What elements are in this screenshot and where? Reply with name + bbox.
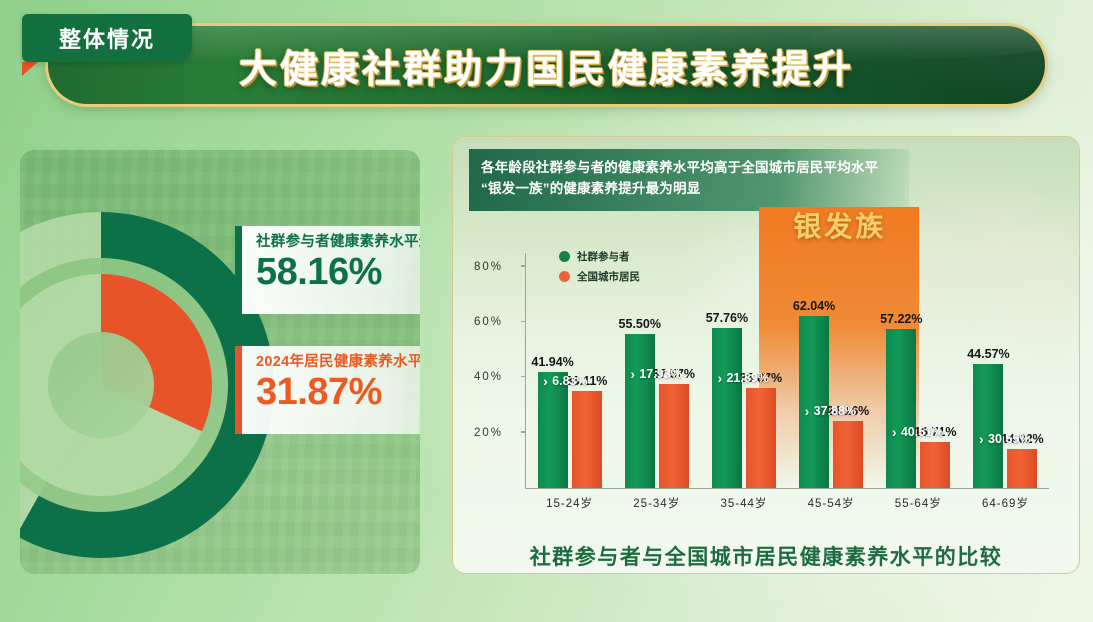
bar-group: 57.22%16.71%40.51%55-64岁 [875,253,962,488]
bar-value-label: 62.04% [793,299,835,313]
title-banner: 大健康社群助力国民健康素养提升 [48,26,1045,104]
difference-label: 6.83% [552,374,587,388]
y-tick-label: 20% [474,427,526,439]
page-title: 大健康社群助力国民健康素养提升 [239,38,854,93]
silver-generation-annotation: 银发族 [761,205,918,245]
bar-national: 14.02% [1007,449,1037,488]
bar-national: 35.87% [746,388,776,488]
stat-card-national: 2024年居民健康素养水平达 31.87% [235,346,420,434]
stat-label: 社群参与者健康素养水平达 [256,234,420,251]
chart-title-block: 社群参与者与全国城市居民健康素养水平的比较 (不同年龄组) [453,541,1079,574]
bar-value-label: 44.57% [967,347,1009,361]
bar-group: 44.57%14.02%30.55%64-69岁 [962,253,1049,488]
bar-value-label: 57.76% [706,311,748,325]
bar-national: 35.11% [572,391,602,488]
overview-panel: 社群参与者健康素养水平达 58.16% 2024年居民健康素养水平达 31.87… [20,150,420,574]
bar-community: 44.57% [973,364,1003,488]
bar-community: 62.04% [799,316,829,488]
x-axis-label: 25-34岁 [633,495,680,511]
y-tick-label: 80% [474,261,526,273]
bar-community: 41.94% [538,372,568,488]
bar-national: 24.16% [833,421,863,488]
x-axis-label: 35-44岁 [720,495,767,511]
y-tick-label: 40% [474,371,526,383]
x-axis-label: 45-54岁 [808,495,855,511]
bar-community: 57.76% [712,328,742,488]
legend-item-national: 全国城市居民 [559,269,640,284]
bar-chart: 社群参与者 全国城市居民 银发族 41.94%35.11%6.83%15-24岁… [467,241,1067,531]
bar-group: 62.04%24.16%37.88%45-54岁 [788,253,875,488]
stat-value: 58.16% [256,253,420,293]
legend-dot-icon [559,271,570,282]
x-axis-label: 15-24岁 [546,495,593,511]
difference-label: 30.55% [988,432,1030,446]
chart-title: 社群参与者与全国城市居民健康素养水平的比较 [453,541,1079,571]
caption-line-2: “银发一族”的健康素养提升最为明显 [481,179,897,200]
bar-value-label: 57.22% [880,312,922,326]
caption-line-1: 各年龄段社群参与者的健康素养水平均高于全国城市居民平均水平 [481,158,897,179]
bar-value-label: 41.94% [531,355,573,369]
bar-national: 37.57% [659,384,689,488]
x-axis-label: 55-64岁 [895,495,942,511]
chart-legend: 社群参与者 全国城市居民 [559,249,640,289]
stat-value: 31.87% [256,373,420,413]
legend-dot-icon [559,251,570,262]
y-tick-label: 60% [474,316,526,328]
difference-label: 17.93% [639,367,681,381]
stat-card-community: 社群参与者健康素养水平达 58.16% [235,226,420,314]
legend-label: 社群参与者 [577,249,630,264]
stat-label: 2024年居民健康素养水平达 [256,354,420,371]
badge-corner-notch [22,62,38,76]
donut-center-hole [48,332,154,438]
bar-value-label: 55.50% [619,317,661,331]
difference-label: 37.88% [814,404,856,418]
x-axis-label: 64-69岁 [982,495,1029,511]
section-badge-overview: 整体情况 [22,14,192,62]
legend-item-community: 社群参与者 [559,249,640,264]
chart-panel: 各年龄段社群参与者的健康素养水平均高于全国城市居民平均水平 “银发一族”的健康素… [452,136,1080,574]
difference-label: 40.51% [901,425,943,439]
legend-label: 全国城市居民 [577,269,640,284]
bar-group: 57.76%35.87%21.89%35-44岁 [700,253,787,488]
bar-community: 57.22% [886,329,916,488]
chart-subtitle: (不同年龄组) [453,573,1079,574]
bar-community: 55.50% [625,334,655,488]
difference-label: 21.89% [726,371,768,385]
caption-box: 各年龄段社群参与者的健康素养水平均高于全国城市居民平均水平 “银发一族”的健康素… [469,149,909,211]
section-badge-label: 整体情况 [59,22,155,54]
bar-national: 16.71% [920,442,950,488]
